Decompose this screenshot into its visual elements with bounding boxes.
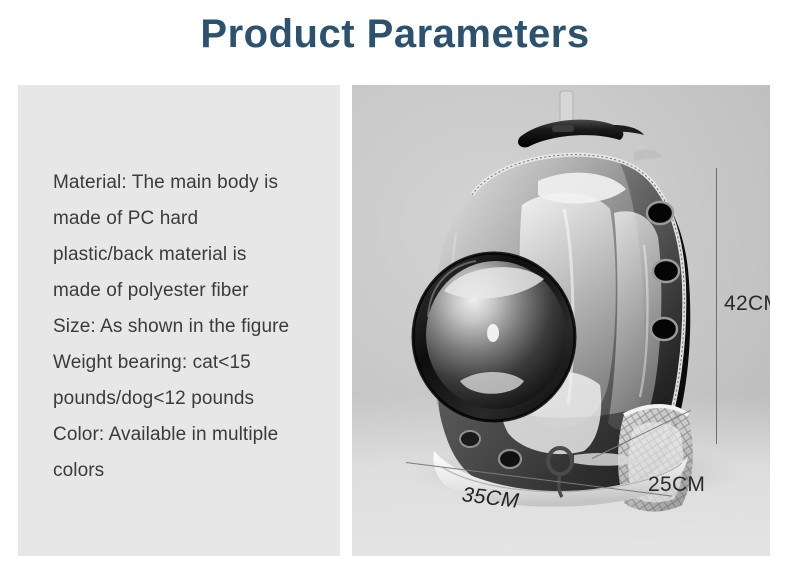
- product-image-panel: 42CM 35CM 25CM: [352, 85, 770, 556]
- vent-hole: [651, 318, 677, 340]
- carry-handle: [518, 120, 623, 148]
- bottom-vent-hole: [460, 431, 480, 447]
- spec-line: Material: The main body is: [53, 165, 325, 201]
- height-dimension-label: 42CM: [724, 292, 770, 316]
- pet-backpack-illustration: [352, 85, 770, 556]
- specifications-panel: Material: The main body is made of PC ha…: [18, 85, 340, 556]
- spec-line: Size: As shown in the figure: [53, 309, 325, 345]
- bubble-dome-window: [413, 253, 575, 421]
- spec-line: made of PC hard: [53, 201, 325, 237]
- depth-dimension-label: 25CM: [648, 473, 705, 497]
- strap-stub: [560, 91, 573, 125]
- vent-hole: [653, 260, 679, 282]
- spec-line: plastic/back material is: [53, 237, 325, 273]
- vent-hole: [647, 202, 673, 224]
- spec-line: pounds/dog<12 pounds: [53, 381, 325, 417]
- panel-notch: [634, 150, 662, 161]
- height-dimension-line: [716, 168, 717, 444]
- zipper-pull: [552, 125, 574, 132]
- bottom-vent-hole: [499, 450, 521, 468]
- pet-backpack-svg: [352, 85, 770, 556]
- page-title: Product Parameters: [0, 8, 790, 60]
- spec-line: Weight bearing: cat<15: [53, 345, 325, 381]
- dome-specular-dot: [487, 324, 499, 342]
- spec-line: Color: Available in multiple: [53, 417, 325, 453]
- spec-line: colors: [53, 453, 325, 489]
- spec-line: made of polyester fiber: [53, 273, 325, 309]
- specification-list: Material: The main body is made of PC ha…: [53, 165, 325, 489]
